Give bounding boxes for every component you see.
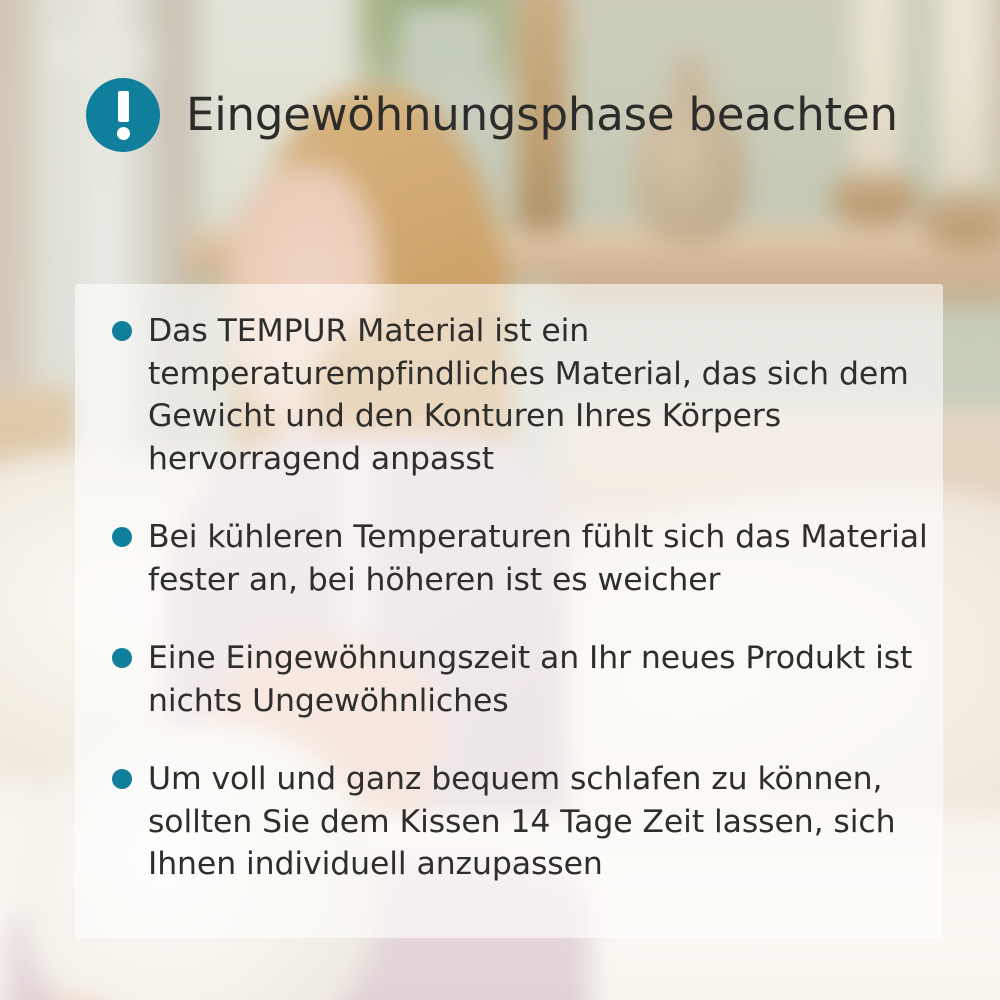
list-item: Um voll und ganz bequem schlafen zu könn…: [112, 758, 932, 886]
list-item: Eine Eingewöhnungszeit an Ihr neues Prod…: [112, 637, 932, 722]
list-item-text: Bei kühleren Temperaturen fühlt sich das…: [148, 516, 932, 601]
bg-window-sash: [41, 41, 153, 68]
benefits-list: Das TEMPUR Material ist ein temperaturem…: [112, 310, 932, 886]
exclamation-dot: [117, 127, 130, 140]
bg-candle-right: [937, 0, 989, 186]
exclamation-bar: [118, 91, 129, 122]
list-item-text: Eine Eingewöhnungszeit an Ihr neues Prod…: [148, 637, 932, 722]
list-item-text: Um voll und ganz bequem schlafen zu könn…: [148, 758, 932, 886]
list-item: Bei kühleren Temperaturen fühlt sich das…: [112, 516, 932, 601]
header: Eingewöhnungsphase beachten: [86, 78, 898, 152]
bullet-dot-icon: [112, 321, 132, 341]
bg-candle-holder-left: [830, 170, 920, 226]
exclamation-circle-icon: [86, 78, 160, 152]
list-item-text: Das TEMPUR Material ist ein temperaturem…: [148, 310, 932, 480]
bullet-dot-icon: [112, 527, 132, 547]
list-item: Das TEMPUR Material ist ein temperaturem…: [112, 310, 932, 480]
bullet-dot-icon: [112, 648, 132, 668]
bullet-dot-icon: [112, 769, 132, 789]
infographic-canvas: Eingewöhnungsphase beachten Das TEMPUR M…: [0, 0, 1000, 1000]
page-title: Eingewöhnungsphase beachten: [186, 91, 898, 138]
